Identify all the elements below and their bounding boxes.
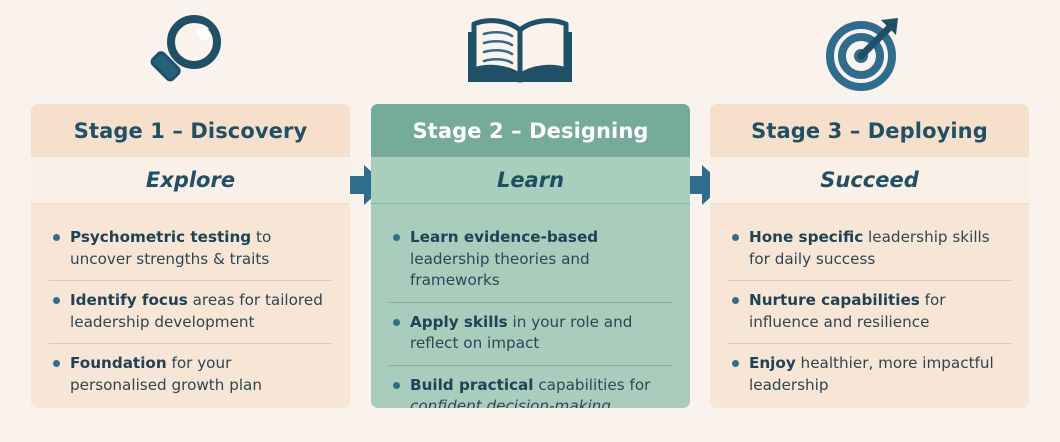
list-item-rest: leadership theories and frameworks (410, 250, 590, 290)
bullet-dot-icon (53, 360, 60, 367)
bullet-dot-icon (732, 234, 739, 241)
list-item-lead: Enjoy (749, 354, 796, 372)
list-item-lead: Apply skills (410, 313, 508, 331)
stage-2-subtitle: Learn (497, 168, 564, 192)
list-item: Psychometric testing to uncover strength… (49, 218, 332, 280)
list-item-lead: Psychometric testing (70, 228, 251, 246)
list-item: Enjoy healthier, more impactful leadersh… (728, 343, 1011, 406)
icon-row (0, 0, 1060, 100)
stage-1-title: Stage 1 – Discovery (74, 119, 308, 143)
list-item: Apply skills in your role and reflect on… (389, 302, 672, 365)
list-item-emphasis: confident decision-making (410, 397, 611, 408)
stage-1-subtitle: Explore (146, 168, 235, 192)
list-item-lead: Build practical (410, 376, 534, 394)
list-item-text: Foundation for your personalised growth … (70, 353, 332, 396)
list-item: Learn evidence-based leadership theories… (389, 218, 672, 302)
target-arrow-icon (775, 8, 955, 96)
list-item-text: Learn evidence-based leadership theories… (410, 227, 672, 292)
list-item-lead: Nurture capabilities (749, 291, 920, 309)
stage-card-3: Stage 3 – Deploying Succeed Hone specifi… (710, 104, 1029, 408)
list-item-text: Hone specific leadership skills for dail… (749, 227, 1011, 270)
stage-3-title: Stage 3 – Deploying (751, 119, 988, 143)
list-item-rest: capabilities for (534, 376, 651, 394)
list-item: Hone specific leadership skills for dail… (728, 218, 1011, 280)
magnifier-icon (95, 8, 275, 96)
list-item: Foundation for your personalised growth … (49, 343, 332, 406)
stage-3-bullet-list: Hone specific leadership skills for dail… (710, 204, 1029, 408)
stage-card-2: Stage 2 – Designing Learn Learn evidence… (371, 104, 690, 408)
list-item: Identify focus areas for tailored leader… (49, 280, 332, 343)
list-item-text: Nurture capabilities for influence and r… (749, 290, 1011, 333)
stage-1-header: Stage 1 – Discovery (31, 104, 350, 157)
list-item-text: Psychometric testing to uncover strength… (70, 227, 332, 270)
stage-3-subtitle-band: Succeed (710, 157, 1029, 204)
bullet-dot-icon (732, 297, 739, 304)
stage-card-1: Stage 1 – Discovery Explore Psychometric… (31, 104, 350, 408)
list-item-text: Apply skills in your role and reflect on… (410, 312, 672, 355)
stage-2-subtitle-band: Learn (371, 157, 690, 204)
list-item-text: Identify focus areas for tailored leader… (70, 290, 332, 333)
list-item-lead: Learn evidence-based (410, 228, 598, 246)
list-item: Build practical capabilities for confide… (389, 365, 672, 408)
bullet-dot-icon (732, 360, 739, 367)
bullet-dot-icon (393, 234, 400, 241)
list-item-text: Enjoy healthier, more impactful leadersh… (749, 353, 1011, 396)
list-item: Nurture capabilities for influence and r… (728, 280, 1011, 343)
stage-2-title: Stage 2 – Designing (412, 119, 648, 143)
bullet-dot-icon (393, 319, 400, 326)
list-item-lead: Hone specific (749, 228, 863, 246)
bullet-dot-icon (53, 234, 60, 241)
stage-3-header: Stage 3 – Deploying (710, 104, 1029, 157)
bullet-dot-icon (393, 382, 400, 389)
infographic-canvas: Stage 1 – Discovery Explore Psychometric… (0, 0, 1060, 442)
list-item-lead: Identify focus (70, 291, 188, 309)
bullet-dot-icon (53, 297, 60, 304)
stage-1-bullet-list: Psychometric testing to uncover strength… (31, 204, 350, 408)
list-item-lead: Foundation (70, 354, 167, 372)
stage-2-bullet-list: Learn evidence-based leadership theories… (371, 204, 690, 408)
list-item-text: Build practical capabilities for confide… (410, 375, 672, 408)
stage-2-header: Stage 2 – Designing (371, 104, 690, 157)
stage-3-subtitle: Succeed (820, 168, 919, 192)
open-book-icon (430, 8, 610, 96)
stage-1-subtitle-band: Explore (31, 157, 350, 204)
